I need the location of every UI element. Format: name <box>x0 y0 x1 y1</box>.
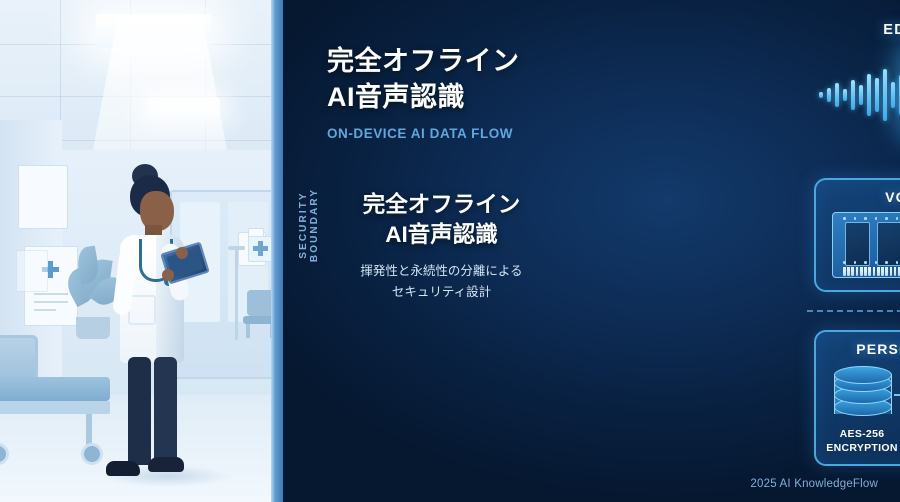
persistent-storage-title: PERSISTENT STORAGE <box>816 341 900 357</box>
ram-module-icon: IN-MEMORY PROCESSING <box>832 212 900 278</box>
secondary-line-2: AI音声認識 <box>319 220 564 250</box>
security-boundary-label: SECURITY BOUNDARY <box>298 155 320 295</box>
exit-sign <box>248 236 272 262</box>
title-line-1: 完全オフライン <box>327 44 557 80</box>
audio-waveform-left <box>819 62 900 128</box>
secondary-sub-2: セキュリティ設計 <box>319 282 564 302</box>
encryption-label: AES-256 ENCRYPTION <box>812 428 900 455</box>
diagram-panel: SECURITY BOUNDARY 完全オフライン AI音声認識 ON-DEVI… <box>283 0 900 502</box>
wall-frame <box>16 250 48 292</box>
footer-credit: 2025 AI KnowledgeFlow <box>750 478 878 490</box>
infographic-canvas: SECURITY BOUNDARY 完全オフライン AI音声認識 ON-DEVI… <box>0 0 900 502</box>
page-title: 完全オフライン AI音声認識 ON-DEVICE AI DATA FLOW <box>327 44 557 141</box>
database-icon <box>834 366 890 422</box>
secondary-heading-block: 完全オフライン AI音声認識 揮発性と永続性の分離による セキュリティ設計 <box>319 190 564 302</box>
volatile-data-title: VOLATILE DATA <box>816 189 900 205</box>
secondary-line-1: 完全オフライン <box>319 190 564 220</box>
iv-stand-top <box>228 246 245 250</box>
doctor-figure <box>112 165 202 502</box>
title-subtitle: ON-DEVICE AI DATA FLOW <box>327 126 557 141</box>
wall-frame <box>18 165 68 229</box>
hospital-scene-illustration <box>0 0 283 502</box>
volatile-data-card: VOLATILE DATA IN-MEMORY PROCESSING NO <box>814 178 900 292</box>
security-boundary-strip <box>271 0 283 502</box>
secondary-sub-1: 揮発性と永続性の分離による <box>319 261 564 281</box>
iv-stand <box>235 250 238 340</box>
boundary-divider <box>807 310 900 312</box>
title-line-2: AI音声認識 <box>327 80 557 116</box>
persistent-storage-card: PERSISTENT STORAGE AES-256 ENCRYPTION <box>814 330 900 466</box>
edge-device-label: EDGE DEVICE <box>860 22 900 38</box>
